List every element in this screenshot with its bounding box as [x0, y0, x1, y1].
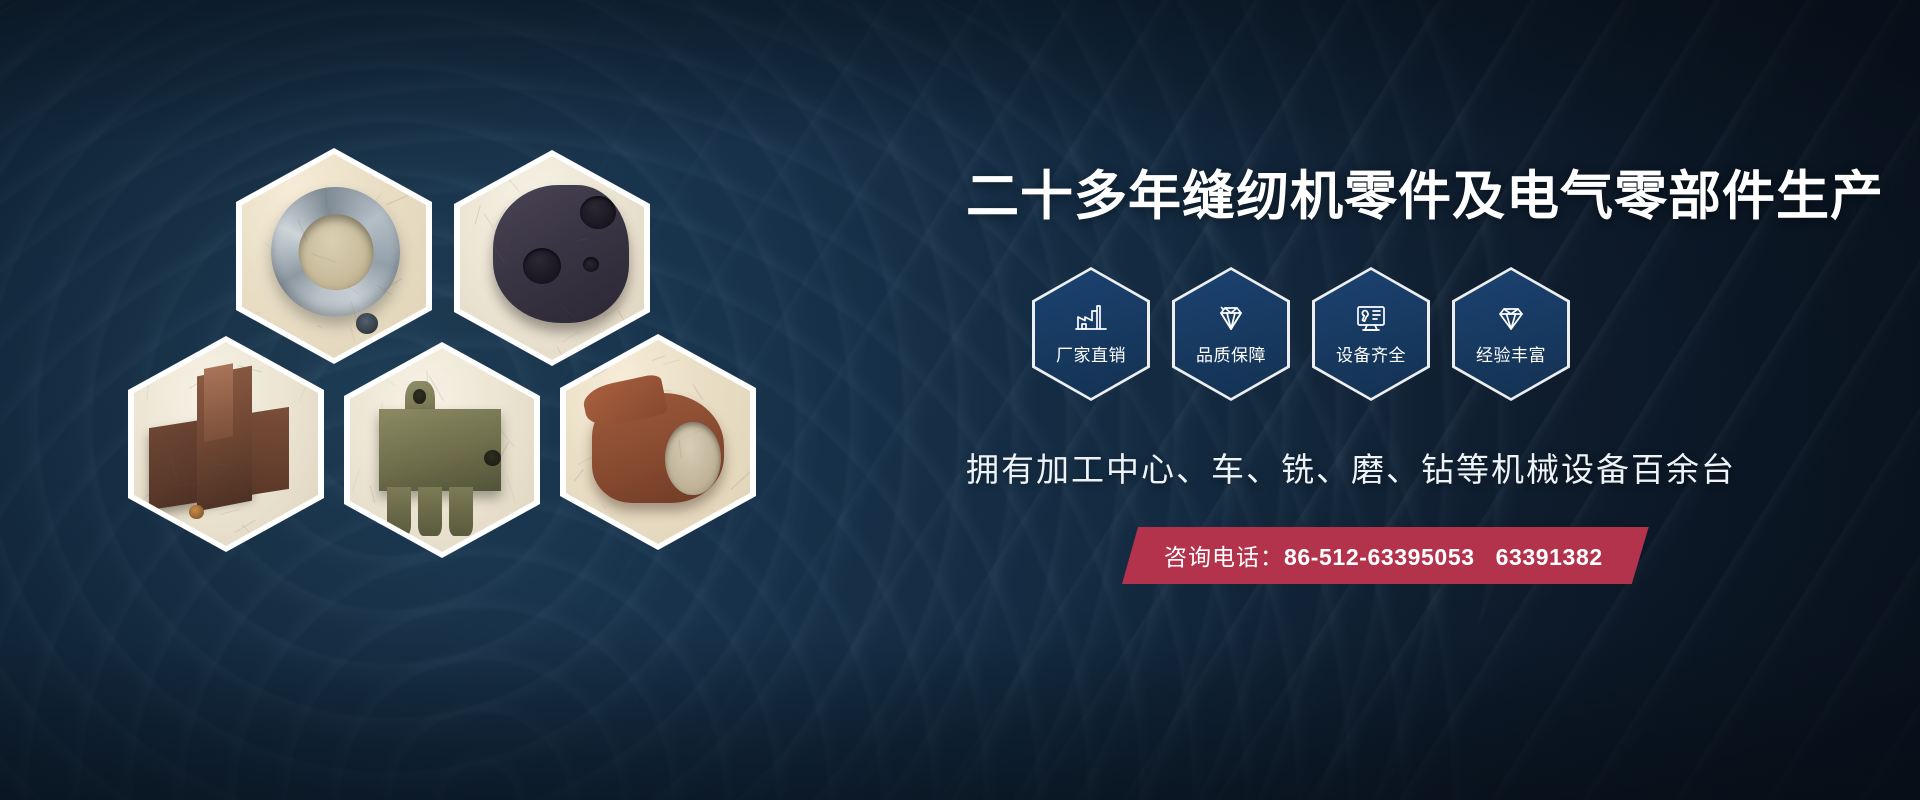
feature-badge-label: 经验丰富 — [1476, 341, 1546, 366]
phone-label: 咨询电话： — [1164, 544, 1284, 570]
product-hexagon-steel-collar-ring[interactable] — [236, 148, 432, 364]
feature-badge-row: 厂家直销 品质保障 — [1032, 267, 1838, 401]
feature-badge-rich-experience[interactable]: 经验丰富 — [1452, 267, 1570, 401]
product-photo-olive-cast-fork — [350, 348, 534, 552]
feature-badge-label: 厂家直销 — [1056, 341, 1126, 366]
product-photo-brown-fixture-block — [134, 342, 318, 546]
phone-number-secondary: 63391382 — [1496, 544, 1603, 570]
feature-badge-full-equipment[interactable]: 设备齐全 — [1312, 267, 1430, 401]
feature-badge-label: 设备齐全 — [1336, 341, 1406, 366]
feature-badge-label: 品质保障 — [1196, 341, 1266, 366]
content-column: 二十多年缝纫机零件及电气零部件生产 厂家直销 — [958, 170, 1838, 584]
product-hexagon-cluster — [128, 148, 768, 520]
feature-badge-quality-assurance[interactable]: 品质保障 — [1172, 267, 1290, 401]
phone-ribbon[interactable]: 咨询电话：86-512-63395053 63391382 — [1122, 527, 1649, 584]
product-photo-dark-cam-plate — [460, 156, 644, 360]
product-hexagon-dark-cam-plate[interactable] — [454, 150, 650, 366]
phone-number-primary: 86-512-63395053 — [1284, 544, 1475, 570]
promo-banner: 二十多年缝纫机零件及电气零部件生产 厂家直销 — [0, 0, 1920, 800]
headline: 二十多年缝纫机零件及电气零部件生产 — [966, 170, 1838, 223]
product-photo-rust-forged-hook — [566, 340, 750, 544]
product-hexagon-rust-forged-hook[interactable] — [560, 334, 756, 550]
monitor-wrench-icon — [1354, 302, 1388, 334]
feature-badge-factory-direct[interactable]: 厂家直销 — [1032, 267, 1150, 401]
product-hexagon-brown-fixture-block[interactable] — [128, 336, 324, 552]
product-photo-steel-collar-ring — [242, 154, 426, 358]
subline: 拥有加工中心、车、铣、磨、钻等机械设备百余台 — [966, 443, 1838, 491]
diamond-icon — [1214, 302, 1248, 334]
gem-icon — [1494, 302, 1528, 334]
factory-icon — [1074, 302, 1108, 334]
